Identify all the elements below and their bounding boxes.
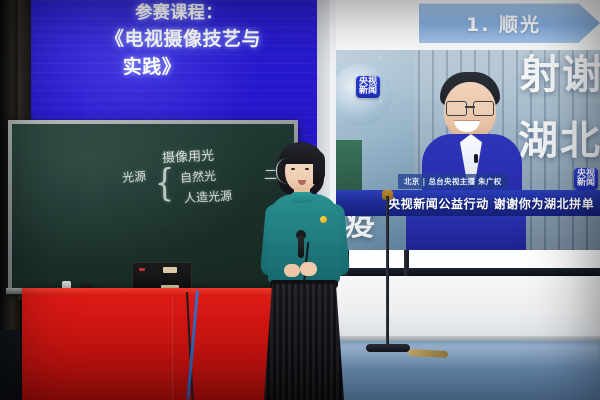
course-label: 参赛课程： — [41, 2, 317, 25]
slide-banner-label: 1. 顺光 — [466, 10, 541, 37]
presenter-eye-left — [291, 168, 295, 170]
backdrop-headline-line1: 射谢 — [520, 56, 600, 95]
presenter-collar — [290, 192, 314, 203]
chalk-brace: { — [155, 162, 174, 206]
mic-stand-base — [366, 344, 410, 352]
red-draped-table — [22, 288, 280, 400]
slide-banner-arrow: 1. 顺光 — [419, 3, 600, 43]
female-presenter — [258, 142, 350, 400]
screenshot-root: 参赛课程： 《电视摄像技艺与 实践》 摄像用光 光源 { 自然光 人造光源 二 … — [0, 0, 600, 400]
mic-stand-pole — [386, 196, 389, 346]
embedded-video-clip[interactable]: 射谢 湖北 疫 央视新闻 央视新闻 北京 | 总台央视主播 朱广权 央视新闻公益… — [336, 50, 600, 250]
presenter-skirt — [264, 284, 344, 400]
caption-source: 北京 | 总台央视主播 朱广权 — [398, 174, 508, 189]
course-title-line1: 《电视摄像技艺与 — [49, 27, 317, 53]
backdrop-headline-line2: 湖北 — [518, 108, 600, 166]
cctv-news-logo-secondary: 央视新闻 — [574, 168, 598, 190]
course-title-line2: 实践》 — [31, 55, 317, 81]
presenter-hair-side — [313, 150, 325, 184]
tablecloth-fold — [172, 288, 174, 400]
chalk-natural-light: 自然光 — [179, 167, 216, 186]
caption-main-text: 央视新闻公益行动 谢谢你为湖北拼单 — [388, 195, 594, 212]
chalk-artificial-light: 人造光源 — [184, 187, 233, 206]
microphone-body — [298, 236, 304, 258]
left-slide-text: 参赛课程： 《电视摄像技艺与 实践》 — [31, 2, 317, 80]
presenter-hand-left — [284, 264, 300, 277]
presenter-eye-right — [305, 168, 309, 170]
presenter-hand-right — [300, 262, 317, 276]
table-top-edge — [22, 288, 280, 296]
right-projection-screen[interactable]: 1. 顺光 射谢 湖北 疫 央视新闻 央视新闻 — [336, 0, 600, 272]
chalk-light-source: 光源 — [121, 167, 146, 186]
cctv-news-logo-primary: 央视新闻 — [356, 76, 380, 98]
caption-bar: 央视新闻公益行动 谢谢你为湖北拼单 — [336, 190, 600, 216]
earpiece-icon — [276, 158, 293, 184]
lapel-badge-icon — [320, 216, 327, 223]
laptop-logo — [139, 268, 145, 271]
lower-wall — [318, 276, 600, 340]
screen-bottom-frame — [330, 268, 600, 276]
anchor-lower-body — [406, 216, 526, 250]
laptop-sticker-top — [163, 267, 177, 273]
lapel-mic-icon — [474, 154, 478, 163]
glasses-icon — [446, 101, 494, 114]
